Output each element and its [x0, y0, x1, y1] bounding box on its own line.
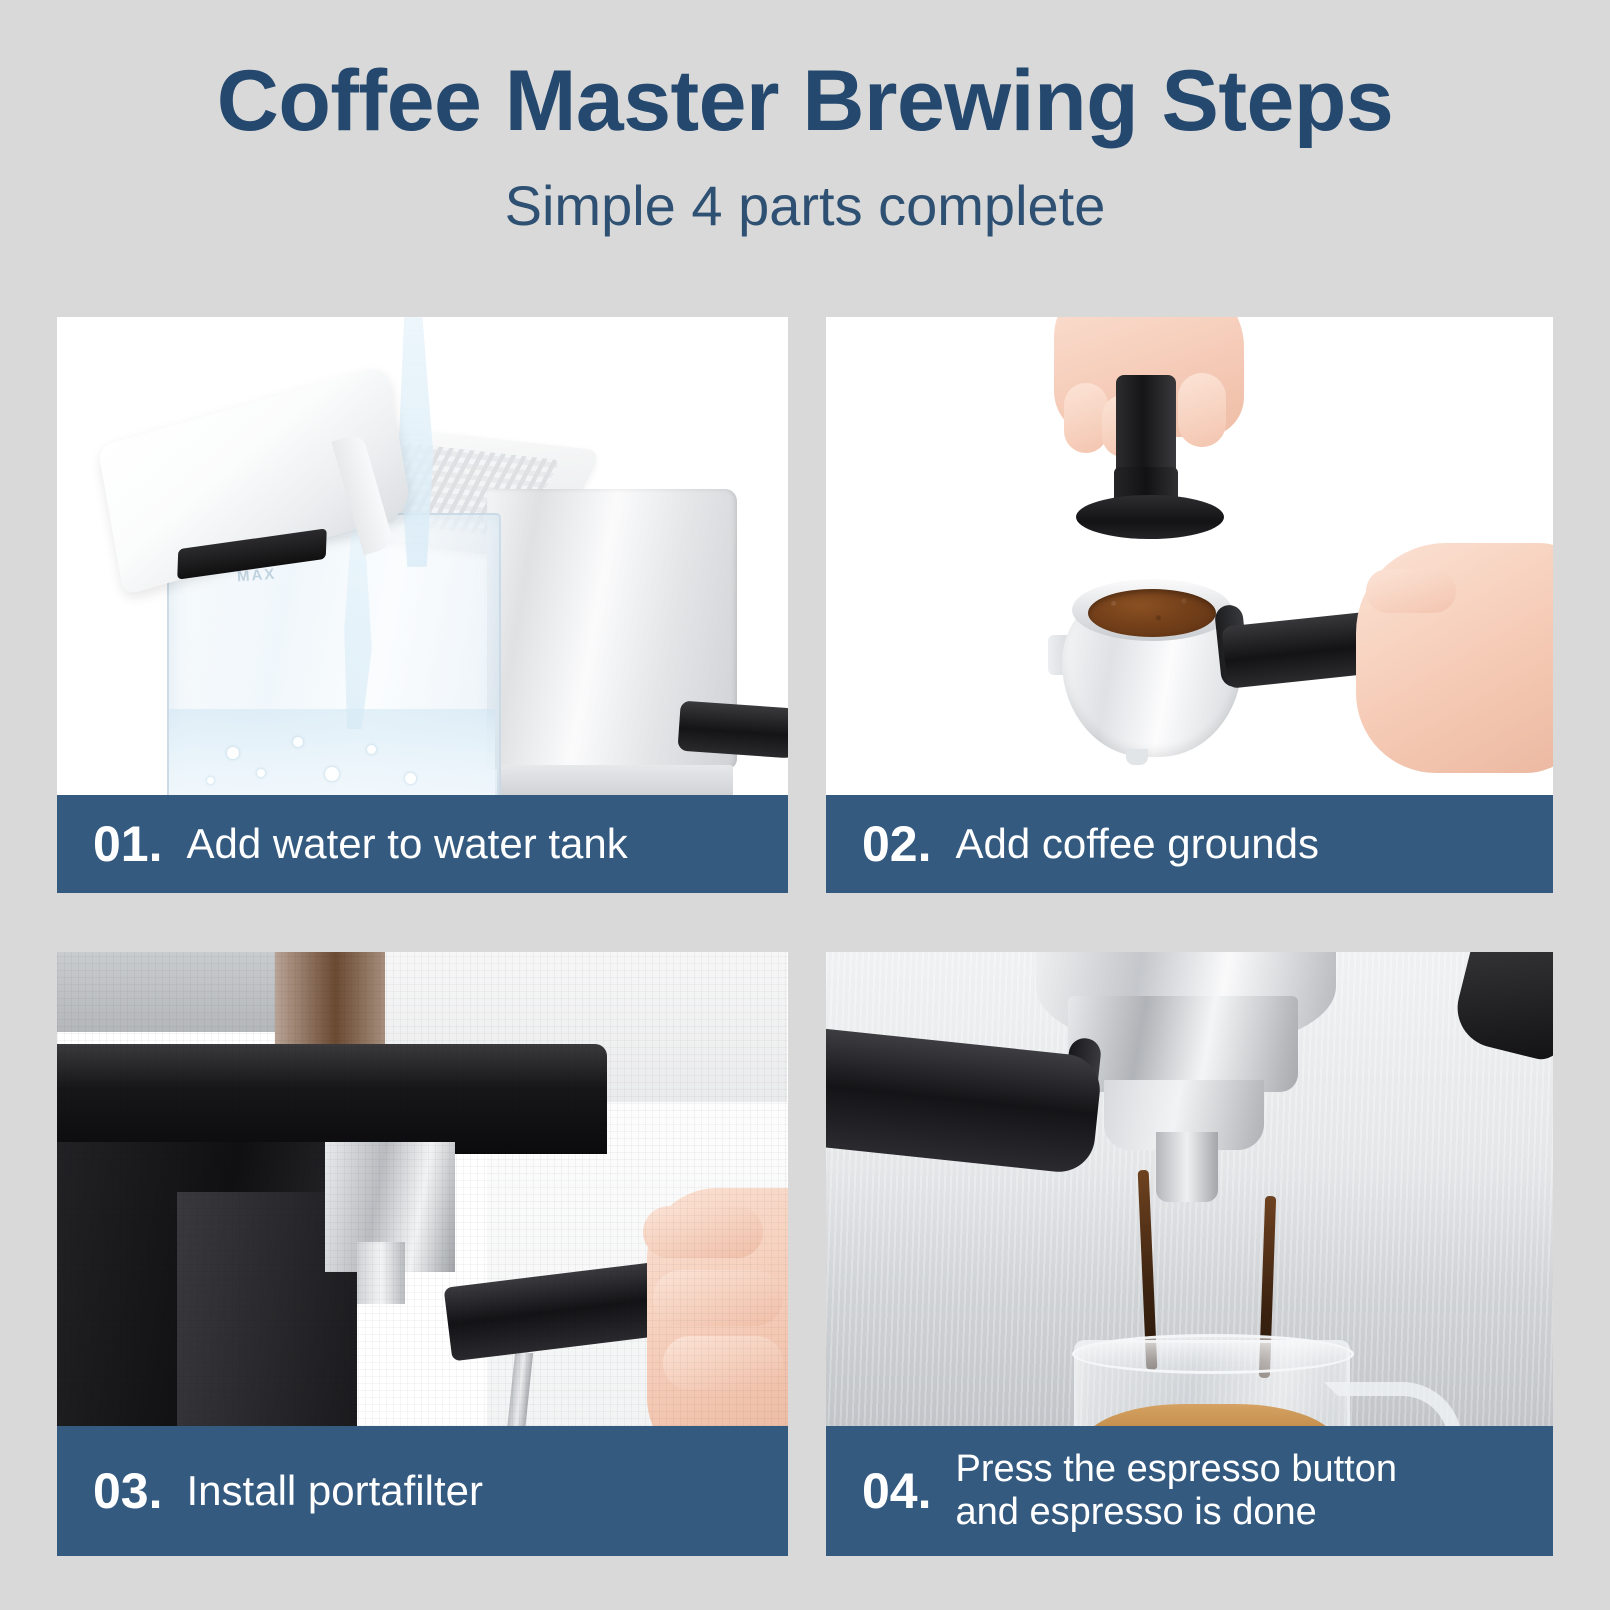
step-label-03: Install portafilter: [187, 1467, 788, 1514]
portafilter-spout-block: [1156, 1132, 1218, 1202]
coffee-grounds-tamper-photo: [826, 317, 1553, 795]
step-label-04-line1: Press the espresso button: [956, 1448, 1397, 1490]
step-label-04-line2: and espresso is done: [956, 1491, 1317, 1533]
water-bubble: [227, 747, 239, 759]
step-number-04: 04.: [862, 1466, 932, 1516]
water-bubble: [325, 767, 339, 781]
water-bubble: [293, 737, 303, 747]
step-label-02: Add coffee grounds: [956, 820, 1553, 867]
portafilter-basket: [1068, 996, 1298, 1092]
steam-wand: [677, 701, 788, 760]
group-head-stem: [357, 1242, 405, 1304]
header: Coffee Master Brewing Steps Simple 4 par…: [0, 0, 1610, 300]
finger: [1366, 569, 1456, 613]
background-column: [275, 952, 385, 1048]
water-bubble: [207, 777, 214, 784]
step-number-03: 03.: [93, 1466, 163, 1516]
machine-base: [497, 765, 733, 795]
water-tank-filling-photo: MAX: [57, 317, 788, 795]
step-caption-04: 04. Press the espresso button and espres…: [826, 1426, 1553, 1556]
step-card-02[interactable]: 02. Add coffee grounds: [826, 317, 1553, 893]
finger: [663, 1336, 783, 1390]
step-card-03[interactable]: 03. Install portafilter: [57, 952, 788, 1556]
coffee-grounds: [1088, 589, 1216, 637]
step-card-01[interactable]: MAX 01. Add water to water tank: [57, 317, 788, 893]
finger: [643, 1206, 763, 1258]
finger: [1178, 373, 1226, 447]
finger: [653, 1270, 783, 1326]
tamper-base: [1076, 495, 1224, 539]
water-bubble: [405, 773, 416, 784]
water-bubble: [257, 769, 265, 777]
install-portafilter-photo: [57, 952, 788, 1426]
cup-rim: [1072, 1334, 1354, 1374]
espresso-pouring-photo: [826, 952, 1553, 1426]
step-number-01: 01.: [93, 819, 163, 869]
step-label-04: Press the espresso button and espresso i…: [956, 1448, 1553, 1535]
infographic-page: Coffee Master Brewing Steps Simple 4 par…: [0, 0, 1610, 1610]
page-title: Coffee Master Brewing Steps: [0, 58, 1610, 144]
portafilter-foot: [1126, 749, 1148, 765]
water-bubble: [367, 745, 376, 754]
step-card-04[interactable]: 04. Press the espresso button and espres…: [826, 952, 1553, 1556]
step-caption-01: 01. Add water to water tank: [57, 795, 788, 893]
page-subtitle: Simple 4 parts complete: [0, 178, 1610, 234]
tank-water-level: [169, 709, 495, 795]
step-label-01: Add water to water tank: [187, 820, 788, 867]
step-caption-02: 02. Add coffee grounds: [826, 795, 1553, 893]
step-number-02: 02.: [862, 819, 932, 869]
step-caption-03: 03. Install portafilter: [57, 1426, 788, 1556]
machine-group-head-shroud: [57, 1044, 607, 1154]
